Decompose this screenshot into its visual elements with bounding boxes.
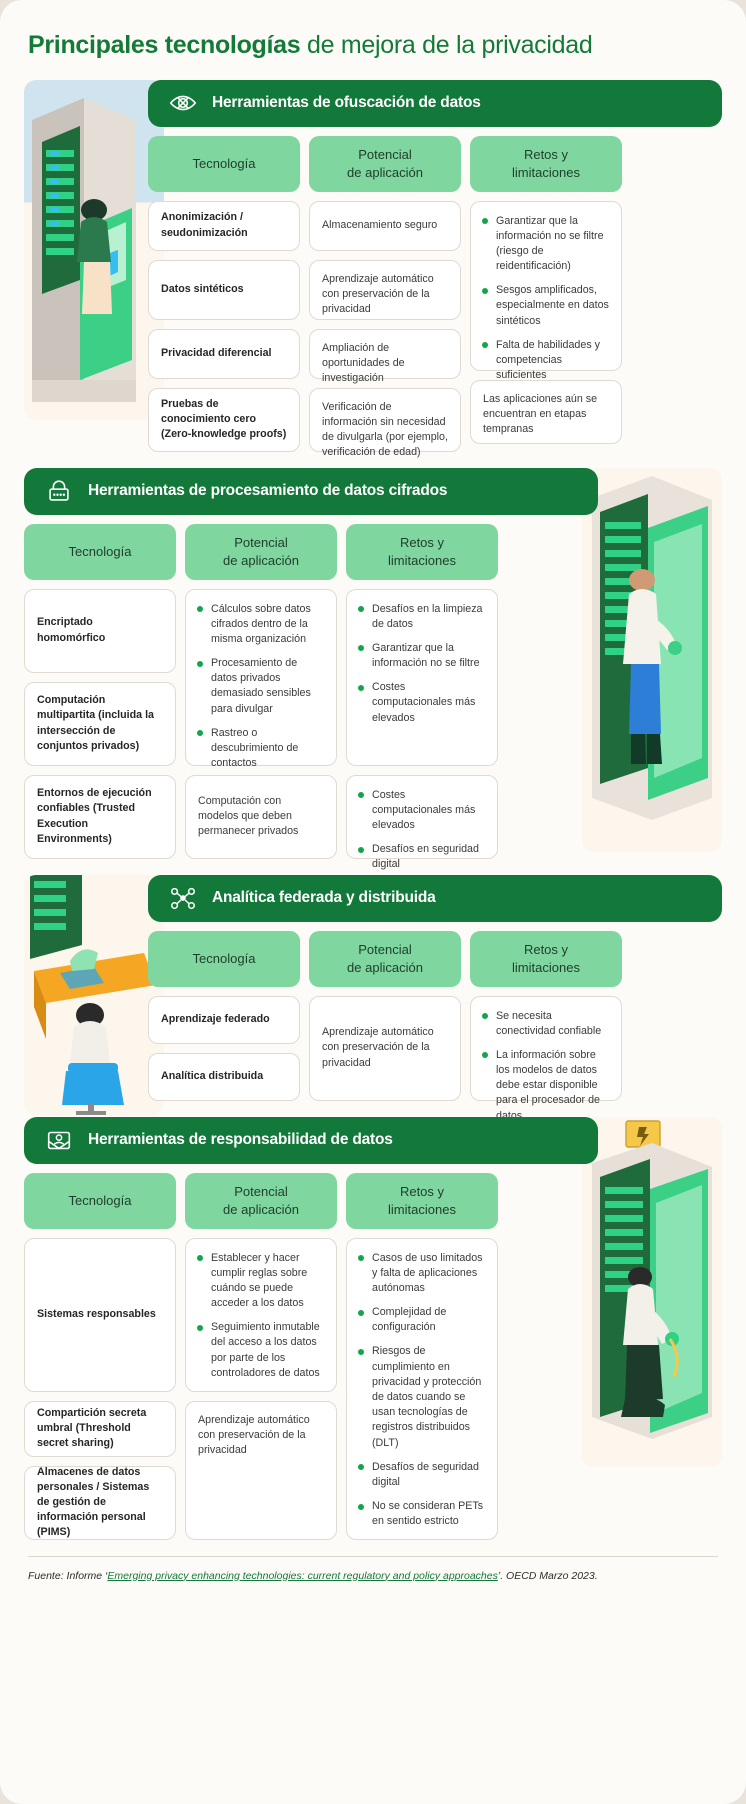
- person-at-desk-laptop-illustration: [24, 875, 164, 1115]
- table-cell-bullets: Establecer y hacer cumplir reglas sobre …: [185, 1238, 337, 1392]
- column-header-label-line2: limitaciones: [512, 959, 580, 976]
- column-retos: Retos y limitaciones Desafíos en la limp…: [346, 524, 498, 859]
- column-header-label-line2: limitaciones: [512, 164, 580, 181]
- list-item: Costes computacionales más elevados: [358, 788, 486, 834]
- page-title-bold: Principales tecnologías: [28, 31, 300, 59]
- table-cell-bullets: Cálculos sobre datos cifrados dentro de …: [185, 589, 337, 766]
- eye-crossed-icon: [168, 88, 198, 118]
- column-header-retos: Retos y limitaciones: [470, 931, 622, 987]
- column-header-label-line1: Retos y: [524, 146, 568, 163]
- section-encrypted-processing: Herramientas de procesamiento de datos c…: [24, 468, 722, 859]
- bullet-list: Costes computacionales más elevados Desa…: [358, 788, 486, 873]
- table-cell-bullets: Desafíos en la limpieza de datos Garanti…: [346, 589, 498, 766]
- list-item: Garantizar que la información no se filt…: [358, 641, 486, 671]
- list-item: Casos de uso limitados y falta de aplica…: [358, 1251, 486, 1297]
- table-row: Entornos de ejecución confiables (Truste…: [24, 775, 176, 859]
- column-tecnologia: Tecnología Aprendizaje federado Analític…: [148, 931, 300, 1101]
- column-header-tecnologia: Tecnología: [148, 931, 300, 987]
- table-row: Almacenes de datos personales / Sistemas…: [24, 1466, 176, 1540]
- list-item: Rastreo o descubrimiento de contactos: [197, 726, 325, 772]
- list-item: La información sobre los modelos de dato…: [482, 1048, 610, 1124]
- table-row: Pruebas de conocimiento cero (Zero-knowl…: [148, 388, 300, 452]
- column-header-label-line1: Retos y: [400, 1183, 444, 1200]
- list-item: Procesamiento de datos privados demasiad…: [197, 656, 325, 717]
- page-title-rest: de mejora de la privacidad: [300, 31, 592, 59]
- column-header-retos: Retos y limitaciones: [346, 524, 498, 580]
- list-item: Desafíos de seguridad digital: [358, 1460, 486, 1490]
- illustration-art: [24, 80, 164, 420]
- section-header-obfuscation: Herramientas de ofuscación de datos: [148, 80, 722, 127]
- infographic-page: Principales tecnologías de mejora de la …: [0, 0, 746, 1804]
- section-title: Analítica federada y distribuida: [212, 889, 436, 907]
- illustration-art: [582, 1117, 722, 1467]
- server-room-technician-illustration: [24, 80, 164, 420]
- column-header-tecnologia: Tecnología: [24, 1173, 176, 1229]
- column-tecnologia: Tecnología Sistemas responsables Compart…: [24, 1173, 176, 1540]
- column-header-label: Tecnología: [69, 543, 132, 560]
- illustration-art: [24, 875, 164, 1115]
- column-potencial: Potencial de aplicación Establecer y hac…: [185, 1173, 337, 1540]
- bullet-list: Garantizar que la información no se filt…: [482, 214, 610, 384]
- table-cell: Verificación de información sin necesida…: [309, 388, 461, 452]
- list-item: No se consideran PETs en sentido estrict…: [358, 1499, 486, 1529]
- column-header-label-line2: de aplicación: [347, 959, 423, 976]
- table-cell: Ampliación de oportunidades de investiga…: [309, 329, 461, 379]
- table-cell: Almacenamiento seguro: [309, 201, 461, 251]
- table-row: Datos sintéticos: [148, 260, 300, 320]
- column-header-tecnologia: Tecnología: [148, 136, 300, 192]
- column-header-label-line1: Potencial: [358, 941, 411, 958]
- table-row: Computación multipartita (incluida la in…: [24, 682, 176, 766]
- column-header-label-line2: de aplicación: [223, 1201, 299, 1218]
- column-potencial: Potencial de aplicación Aprendizaje auto…: [309, 931, 461, 1101]
- column-header-label: Tecnología: [69, 1192, 132, 1209]
- table-cell-bullets: Costes computacionales más elevados Desa…: [346, 775, 498, 859]
- column-header-retos: Retos y limitaciones: [470, 136, 622, 192]
- column-header-retos: Retos y limitaciones: [346, 1173, 498, 1229]
- column-header-label-line2: de aplicación: [347, 164, 423, 181]
- table-row: Encriptado homomórfico: [24, 589, 176, 673]
- column-header-label-line2: limitaciones: [388, 1201, 456, 1218]
- network-nodes-icon: [168, 883, 198, 913]
- section-title: Herramientas de responsabilidad de datos: [88, 1131, 393, 1149]
- table-cell: Aprendizaje automático con preservación …: [185, 1401, 337, 1540]
- table-obfuscation: Tecnología Anonimización / seudonimizaci…: [148, 136, 722, 452]
- table-cell-bullets: Garantizar que la información no se filt…: [470, 201, 622, 371]
- column-header-label-line2: de aplicación: [223, 552, 299, 569]
- illustration-art: [582, 468, 722, 852]
- person-envelope-icon: [44, 1125, 74, 1155]
- table-cell: Las aplicaciones aún se encuentran en et…: [470, 380, 622, 444]
- table-row: Anonimización / seudonimización: [148, 201, 300, 251]
- list-item: Se necesita conectividad confiable: [482, 1009, 610, 1039]
- list-item: Riesgos de cumplimiento en privacidad y …: [358, 1344, 486, 1450]
- page-title-wrap: Principales tecnologías de mejora de la …: [0, 0, 746, 80]
- section-data-accountability: Herramientas de responsabilidad de datos…: [24, 1117, 722, 1540]
- padlock-pin-icon: [44, 476, 74, 506]
- list-item: Costes computacionales más elevados: [358, 680, 486, 726]
- column-header-potencial: Potencial de aplicación: [185, 1173, 337, 1229]
- column-header-label: Tecnología: [193, 950, 256, 967]
- section-title: Herramientas de ofuscación de datos: [212, 94, 481, 112]
- bullet-list: Desafíos en la limpieza de datos Garanti…: [358, 602, 486, 726]
- table-cell-bullets: Se necesita conectividad confiable La in…: [470, 996, 622, 1101]
- table-cell: Aprendizaje automático con preservación …: [309, 260, 461, 320]
- section-header-data-accountability: Herramientas de responsabilidad de datos: [24, 1117, 598, 1164]
- column-tecnologia: Tecnología Anonimización / seudonimizaci…: [148, 136, 300, 452]
- column-header-label-line1: Potencial: [234, 534, 287, 551]
- list-item: Cálculos sobre datos cifrados dentro de …: [197, 602, 325, 648]
- column-header-label-line1: Retos y: [400, 534, 444, 551]
- column-retos: Retos y limitaciones Casos de uso limita…: [346, 1173, 498, 1540]
- bullet-list: Establecer y hacer cumplir reglas sobre …: [197, 1251, 325, 1382]
- table-encrypted-processing: Tecnología Encriptado homomórfico Comput…: [24, 524, 598, 859]
- column-header-tecnologia: Tecnología: [24, 524, 176, 580]
- column-header-potencial: Potencial de aplicación: [309, 931, 461, 987]
- section-title: Herramientas de procesamiento de datos c…: [88, 482, 447, 500]
- table-cell: Aprendizaje automático con preservación …: [309, 996, 461, 1101]
- table-row: Privacidad diferencial: [148, 329, 300, 379]
- table-federated-analytics: Tecnología Aprendizaje federado Analític…: [148, 931, 722, 1101]
- column-potencial: Potencial de aplicación Almacenamiento s…: [309, 136, 461, 452]
- column-retos: Retos y limitaciones Garantizar que la i…: [470, 136, 622, 452]
- bullet-list: Casos de uso limitados y falta de aplica…: [358, 1251, 486, 1530]
- table-row: Sistemas responsables: [24, 1238, 176, 1392]
- list-item: Sesgos amplificados, especialmente en da…: [482, 283, 610, 329]
- list-item: Garantizar que la información no se filt…: [482, 214, 610, 275]
- section-obfuscation: Herramientas de ofuscación de datos Tecn…: [24, 80, 722, 452]
- column-header-label-line1: Potencial: [234, 1183, 287, 1200]
- list-item: Seguimiento inmutable del acceso a los d…: [197, 1320, 325, 1381]
- technician-server-cabinet-illustration: [582, 1117, 722, 1467]
- server-rack-engineer-illustration: [582, 468, 722, 852]
- table-row: Analítica distribuida: [148, 1053, 300, 1101]
- source-link[interactable]: Emerging privacy enhancing technologies:…: [107, 1570, 497, 1582]
- table-row: Aprendizaje federado: [148, 996, 300, 1044]
- column-potencial: Potencial de aplicación Cálculos sobre d…: [185, 524, 337, 859]
- column-retos: Retos y limitaciones Se necesita conecti…: [470, 931, 622, 1101]
- column-header-label-line1: Retos y: [524, 941, 568, 958]
- bullet-list: Cálculos sobre datos cifrados dentro de …: [197, 602, 325, 772]
- section-federated-analytics: Analítica federada y distribuida Tecnolo…: [24, 875, 722, 1101]
- list-item: Falta de habilidades y competencias sufi…: [482, 338, 610, 384]
- table-cell-bullets: Casos de uso limitados y falta de aplica…: [346, 1238, 498, 1540]
- column-header-potencial: Potencial de aplicación: [185, 524, 337, 580]
- column-header-label-line1: Potencial: [358, 146, 411, 163]
- list-item: Desafíos en la limpieza de datos: [358, 602, 486, 632]
- source-note: Fuente: Informe ‘Emerging privacy enhanc…: [28, 1556, 718, 1585]
- table-data-accountability: Tecnología Sistemas responsables Compart…: [24, 1173, 598, 1540]
- table-cell: Computación con modelos que deben perman…: [185, 775, 337, 859]
- section-header-federated-analytics: Analítica federada y distribuida: [148, 875, 722, 922]
- column-header-label: Tecnología: [193, 155, 256, 172]
- list-item: Desafíos en seguridad digital: [358, 842, 486, 872]
- section-header-encrypted-processing: Herramientas de procesamiento de datos c…: [24, 468, 598, 515]
- table-row: Compartición secreta umbral (Threshold s…: [24, 1401, 176, 1457]
- column-header-potencial: Potencial de aplicación: [309, 136, 461, 192]
- list-item: Establecer y hacer cumplir reglas sobre …: [197, 1251, 325, 1312]
- column-tecnologia: Tecnología Encriptado homomórfico Comput…: [24, 524, 176, 859]
- source-suffix: ’. OECD Marzo 2023.: [498, 1570, 598, 1582]
- list-item: Complejidad de configuración: [358, 1305, 486, 1335]
- column-header-label-line2: limitaciones: [388, 552, 456, 569]
- page-title: Principales tecnologías de mejora de la …: [28, 30, 718, 62]
- sections-layout: Herramientas de ofuscación de datos Tecn…: [0, 80, 746, 1540]
- source-prefix: Fuente: Informe ‘: [28, 1570, 107, 1582]
- bullet-list: Se necesita conectividad confiable La in…: [482, 1009, 610, 1124]
